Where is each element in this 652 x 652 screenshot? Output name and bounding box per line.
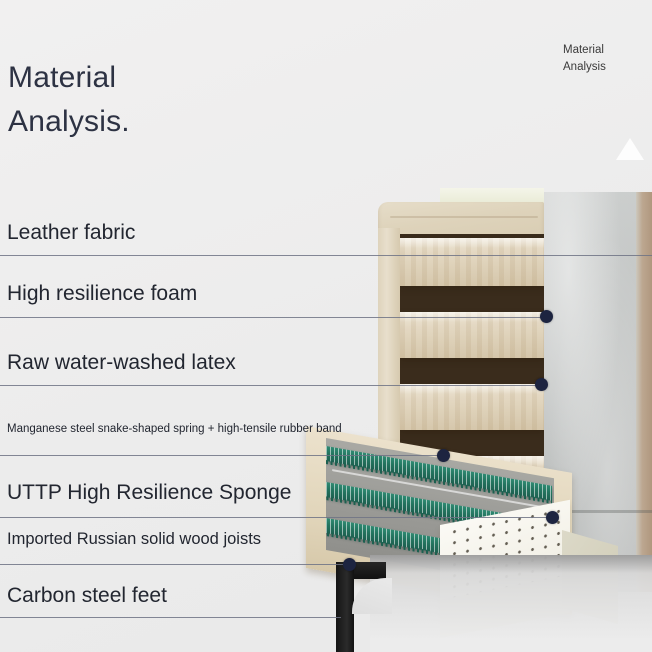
- callout-label-uttp-sponge: UTTP High Resilience Sponge: [7, 481, 291, 505]
- callout-label-manganese-spring: Manganese steel snake-shaped spring + hi…: [7, 423, 342, 435]
- page-title-line1: Material: [8, 56, 328, 100]
- callout-label-high-resilience-foam: High resilience foam: [7, 282, 197, 306]
- callout-label-wood-joists: Imported Russian solid wood joists: [7, 530, 261, 549]
- callout-leader-line-leather-fabric: [0, 255, 652, 256]
- callout-leader-line-uttp-sponge: [0, 517, 553, 518]
- callout-dot-raw-latex: [535, 378, 548, 391]
- page-title: Material Analysis.: [8, 56, 328, 144]
- corner-note: Material Analysis: [563, 42, 643, 76]
- wood-slat: [400, 312, 544, 358]
- corner-note-line1: Material: [563, 42, 643, 59]
- callout-label-carbon-steel-feet: Carbon steel feet: [7, 584, 167, 608]
- corner-note-line2: Analysis: [563, 59, 643, 76]
- white-triangle-accent: [616, 138, 644, 160]
- callout-leader-line-high-resilience-foam: [0, 317, 549, 318]
- callout-dot-manganese-spring: [437, 449, 450, 462]
- callout-dot-uttp-sponge: [546, 511, 559, 524]
- leg-curve-cutout: [352, 578, 392, 614]
- page-title-line2: Analysis.: [8, 100, 328, 144]
- callout-leader-line-raw-latex: [0, 385, 543, 386]
- infographic-canvas: Material Analysis. Material Analysis Lea…: [0, 0, 652, 652]
- callout-leader-line-manganese-spring: [0, 455, 443, 456]
- product-illustration: [300, 130, 652, 652]
- callout-leader-line-carbon-steel-feet: [0, 617, 341, 618]
- callout-dot-high-resilience-foam: [540, 310, 553, 323]
- callout-leader-line-wood-joists: [0, 564, 349, 565]
- carbon-steel-leg: [328, 562, 380, 652]
- fabric-right-edge: [636, 192, 652, 592]
- floor-shadow-edge: [370, 555, 652, 573]
- wood-slat: [400, 238, 544, 286]
- callout-label-leather-fabric: Leather fabric: [7, 221, 135, 245]
- callout-label-raw-latex: Raw water-washed latex: [7, 351, 236, 375]
- callout-dot-wood-joists: [343, 558, 356, 571]
